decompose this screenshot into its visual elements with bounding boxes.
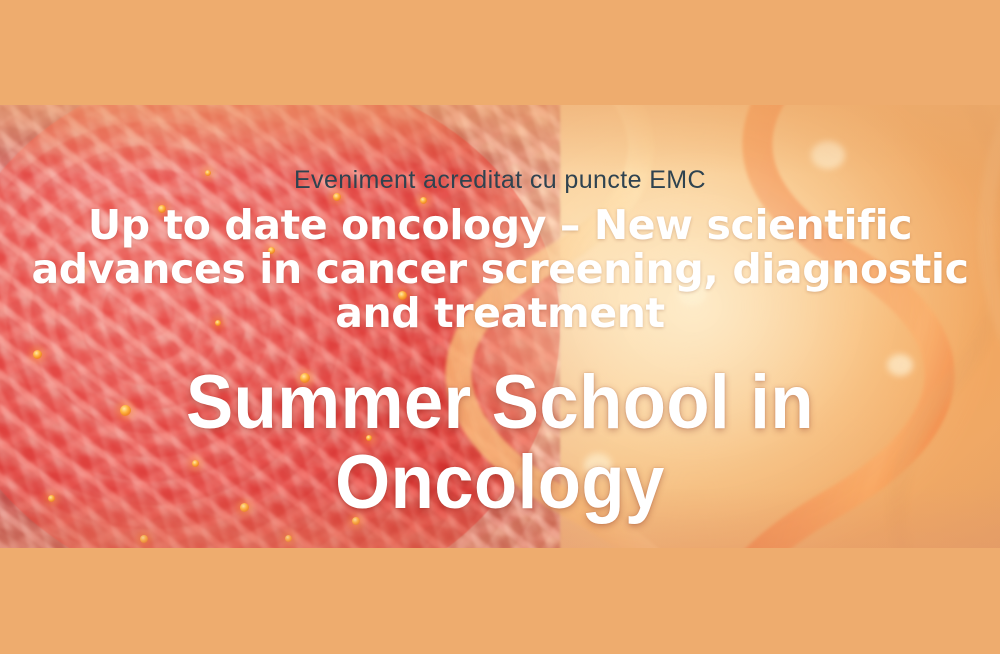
event-banner: Eveniment acreditat cu puncte EMC Up to … [0,105,1000,548]
accreditation-eyebrow: Eveniment acreditat cu puncte EMC [0,165,1000,195]
event-main-title: Summer School in Oncology [35,363,965,523]
event-headline: Up to date oncology – New scientific adv… [0,203,1000,335]
banner-content: Eveniment acreditat cu puncte EMC Up to … [0,105,1000,548]
page-root: Eveniment acreditat cu puncte EMC Up to … [0,0,1000,654]
